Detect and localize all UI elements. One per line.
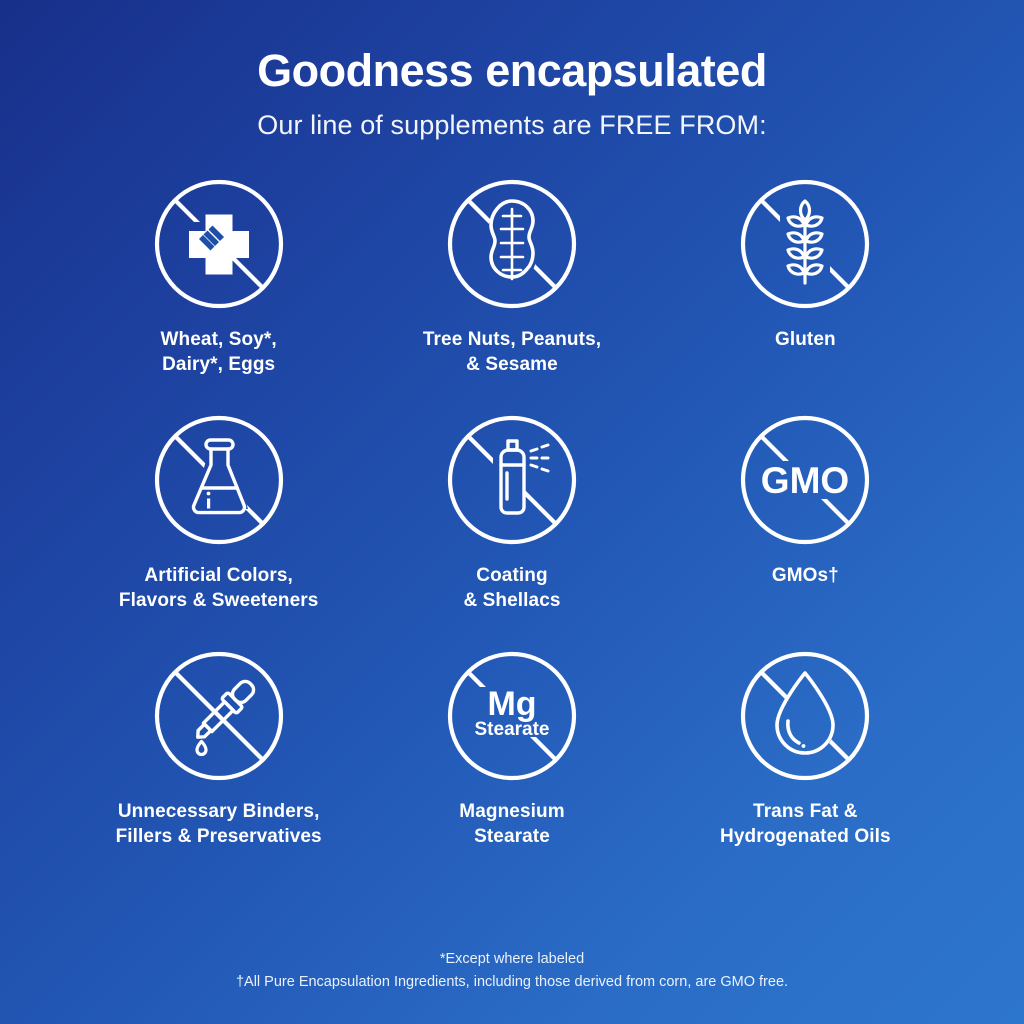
no-magnesium-stearate-icon: Mg Stearate — [445, 649, 579, 783]
free-from-item: Mg Stearate Magnesium Stearate — [365, 649, 658, 885]
free-from-grid: Wheat, Soy*, Dairy*, Eggs — [72, 177, 952, 885]
free-from-item: Gluten — [659, 177, 952, 413]
free-from-item-label: Unnecessary Binders, Fillers & Preservat… — [116, 799, 322, 849]
mg-icon-text: Mg — [487, 685, 536, 723]
no-flask-icon — [152, 413, 286, 547]
free-from-item-label: Tree Nuts, Peanuts, & Sesame — [423, 327, 601, 377]
free-from-infographic: Goodness encapsulated Our line of supple… — [0, 0, 1024, 1024]
no-spray-can-icon — [445, 413, 579, 547]
footnotes: *Except where labeled †All Pure Encapsul… — [0, 948, 1024, 994]
page-subtitle: Our line of supplements are FREE FROM: — [0, 110, 1024, 141]
free-from-item-label: Magnesium Stearate — [459, 799, 564, 849]
no-peanut-icon — [445, 177, 579, 311]
free-from-item-label: Coating & Shellacs — [463, 563, 560, 613]
free-from-item: GMO GMOs† — [659, 413, 952, 649]
no-allergen-cross-fork-icon — [152, 177, 286, 311]
no-dropper-icon — [152, 649, 286, 783]
gmo-icon-text: GMO — [761, 460, 849, 501]
free-from-item-label: GMOs† — [772, 563, 839, 588]
free-from-item-label: Trans Fat & Hydrogenated Oils — [720, 799, 891, 849]
stearate-icon-text: Stearate — [474, 719, 549, 740]
page-title: Goodness encapsulated — [0, 46, 1024, 96]
free-from-item-label: Gluten — [775, 327, 836, 352]
free-from-item: Wheat, Soy*, Dairy*, Eggs — [72, 177, 365, 413]
free-from-item: Coating & Shellacs — [365, 413, 658, 649]
free-from-item-label: Artificial Colors, Flavors & Sweeteners — [119, 563, 318, 613]
free-from-item-label: Wheat, Soy*, Dairy*, Eggs — [161, 327, 277, 377]
free-from-item: Trans Fat & Hydrogenated Oils — [659, 649, 952, 885]
no-gmo-text-icon: GMO — [738, 413, 872, 547]
free-from-item: Artificial Colors, Flavors & Sweeteners — [72, 413, 365, 649]
header: Goodness encapsulated Our line of supple… — [0, 0, 1024, 141]
footnote-dagger: †All Pure Encapsulation Ingredients, inc… — [0, 971, 1024, 994]
no-oil-drop-icon — [738, 649, 872, 783]
no-wheat-stalk-icon — [738, 177, 872, 311]
free-from-item: Tree Nuts, Peanuts, & Sesame — [365, 177, 658, 413]
footnote-asterisk: *Except where labeled — [0, 948, 1024, 971]
free-from-item: Unnecessary Binders, Fillers & Preservat… — [72, 649, 365, 885]
